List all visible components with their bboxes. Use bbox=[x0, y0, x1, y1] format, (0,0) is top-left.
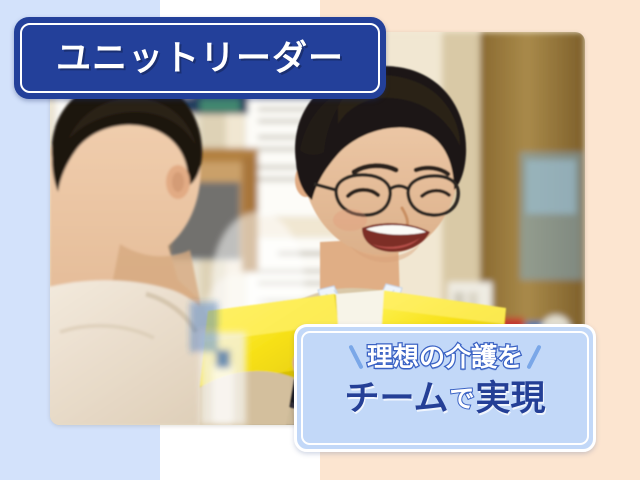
poster-canvas: ユニットリーダー 理想の介護を チームで実現 bbox=[0, 0, 640, 480]
caption-line-1-text: 理想の介護を bbox=[367, 344, 523, 370]
slash-right-icon bbox=[526, 345, 541, 370]
caption-keyword-realize: 実現 bbox=[475, 379, 545, 418]
slash-left-icon bbox=[348, 345, 363, 370]
role-badge: ユニットリーダー bbox=[14, 17, 386, 99]
caption-particle-de: で bbox=[449, 385, 474, 413]
role-badge-label: ユニットリーダー bbox=[56, 41, 344, 76]
caption-line-2: チームで実現 bbox=[297, 381, 593, 416]
caption-panel: 理想の介護を チームで実現 bbox=[294, 324, 596, 452]
caption-keyword-team: チーム bbox=[345, 379, 449, 418]
caption-line-1: 理想の介護を bbox=[297, 344, 593, 370]
